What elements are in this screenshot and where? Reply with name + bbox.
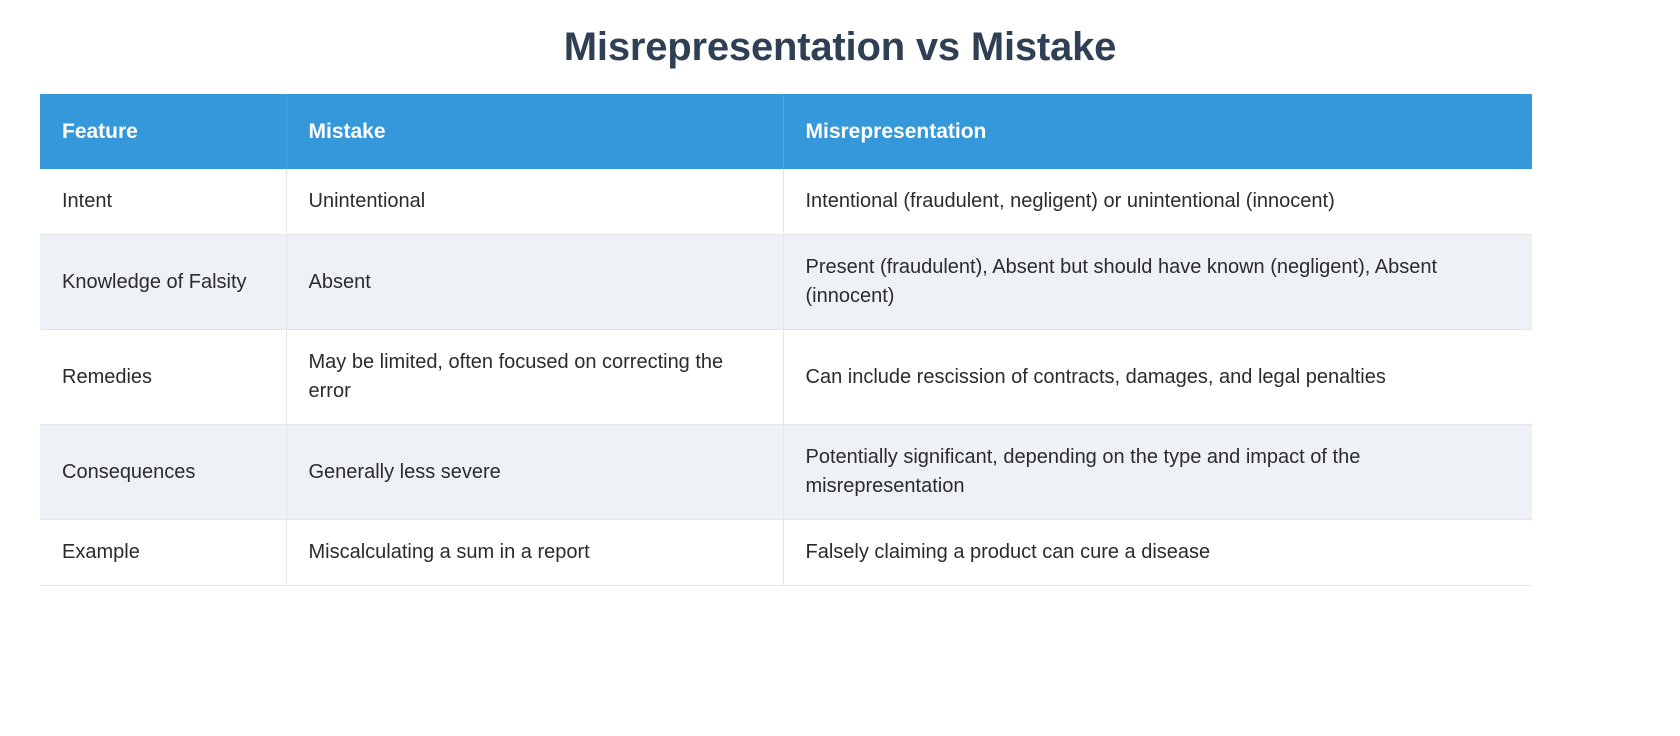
column-header-mistake: Mistake: [286, 94, 783, 169]
cell-misrepresentation: Potentially significant, depending on th…: [783, 425, 1532, 520]
page-root: Misrepresentation vs Mistake Feature Mis…: [0, 0, 1680, 736]
cell-text: Falsely claiming a product can cure a di…: [806, 538, 1511, 567]
cell-misrepresentation: Can include rescission of contracts, dam…: [783, 330, 1532, 425]
table-row: Example Miscalculating a sum in a report…: [40, 520, 1532, 586]
cell-text: Absent: [309, 268, 761, 297]
cell-feature: Intent: [40, 169, 286, 235]
cell-misrepresentation: Falsely claiming a product can cure a di…: [783, 520, 1532, 586]
table-row: Knowledge of Falsity Absent Present (fra…: [40, 235, 1532, 330]
cell-text: Present (fraudulent), Absent but should …: [806, 253, 1511, 311]
comparison-table-container: Feature Mistake Misrepresentation Intent…: [40, 94, 1532, 586]
comparison-table: Feature Mistake Misrepresentation Intent…: [40, 94, 1532, 586]
table-body: Intent Unintentional Intentional (fraudu…: [40, 169, 1532, 586]
column-header-feature: Feature: [40, 94, 286, 169]
cell-text: Generally less severe: [309, 458, 761, 487]
cell-text: Knowledge of Falsity: [62, 268, 264, 297]
cell-mistake: Absent: [286, 235, 783, 330]
cell-mistake: May be limited, often focused on correct…: [286, 330, 783, 425]
cell-text: Example: [62, 538, 264, 567]
table-row: Remedies May be limited, often focused o…: [40, 330, 1532, 425]
table-row: Consequences Generally less severe Poten…: [40, 425, 1532, 520]
cell-feature: Example: [40, 520, 286, 586]
cell-text: Intent: [62, 187, 264, 216]
cell-text: Can include rescission of contracts, dam…: [806, 363, 1511, 392]
cell-text: May be limited, often focused on correct…: [309, 348, 761, 406]
cell-text: Potentially significant, depending on th…: [806, 443, 1511, 501]
cell-mistake: Miscalculating a sum in a report: [286, 520, 783, 586]
cell-text: Intentional (fraudulent, negligent) or u…: [806, 187, 1511, 216]
column-header-misrepresentation: Misrepresentation: [783, 94, 1532, 169]
cell-text: Consequences: [62, 458, 264, 487]
cell-text: Miscalculating a sum in a report: [309, 538, 761, 567]
cell-misrepresentation: Intentional (fraudulent, negligent) or u…: [783, 169, 1532, 235]
cell-feature: Remedies: [40, 330, 286, 425]
cell-misrepresentation: Present (fraudulent), Absent but should …: [783, 235, 1532, 330]
cell-mistake: Generally less severe: [286, 425, 783, 520]
cell-text: Remedies: [62, 363, 264, 392]
cell-mistake: Unintentional: [286, 169, 783, 235]
cell-feature: Consequences: [40, 425, 286, 520]
table-header-row: Feature Mistake Misrepresentation: [40, 94, 1532, 169]
table-row: Intent Unintentional Intentional (fraudu…: [40, 169, 1532, 235]
page-title: Misrepresentation vs Mistake: [0, 0, 1680, 72]
cell-text: Unintentional: [309, 187, 761, 216]
table-header: Feature Mistake Misrepresentation: [40, 94, 1532, 169]
cell-feature: Knowledge of Falsity: [40, 235, 286, 330]
